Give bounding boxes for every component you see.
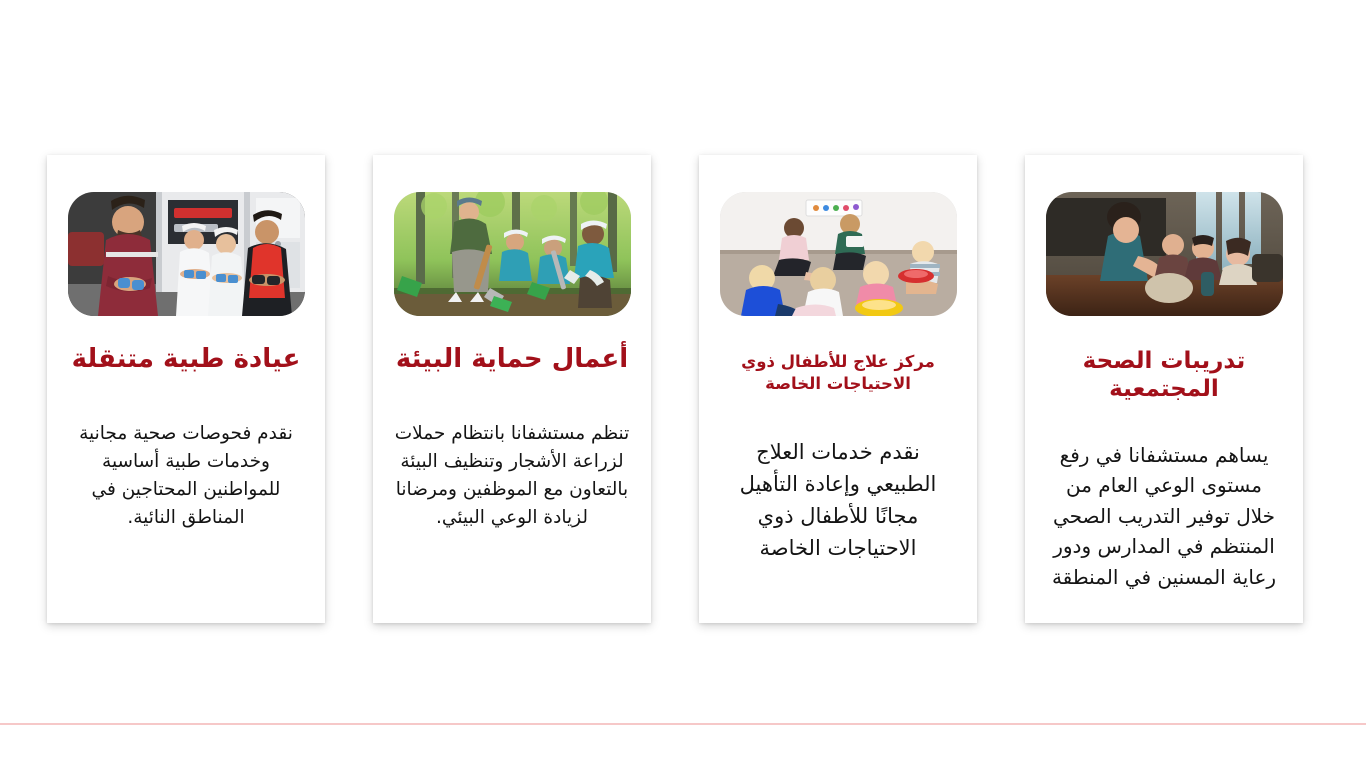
service-card-description: نقدم خدمات العلاج الطبيعي وإعادة التأهيل… bbox=[718, 437, 958, 565]
service-card-community-health-trainings[interactable]: تدريبات الصحة المجتمعية يساهم مستشفانا ف… bbox=[1025, 155, 1303, 623]
community-health-training-photo bbox=[1046, 192, 1283, 316]
service-card-title: أعمال حماية البيئة bbox=[392, 344, 632, 376]
service-card-title: تدريبات الصحة المجتمعية bbox=[1044, 347, 1284, 403]
service-card-description: يساهم مستشفانا في رفع مستوى الوعي العام … bbox=[1044, 440, 1284, 592]
service-card-special-needs-children-therapy-center[interactable]: مركز علاج للأطفال ذوي الاحتياجات الخاصة … bbox=[699, 155, 977, 623]
service-card-description: تنظم مستشفانا بانتظام حملات لزراعة الأشج… bbox=[392, 420, 632, 532]
service-card-title: مركز علاج للأطفال ذوي الاحتياجات الخاصة bbox=[718, 351, 958, 395]
service-card-description: نقدم فحوصات صحية مجانية وخدمات طبية أساس… bbox=[66, 420, 306, 532]
service-card-environmental-protection-works[interactable]: أعمال حماية البيئة تنظم مستشفانا بانتظام… bbox=[373, 155, 651, 623]
volunteers-planting-trees-photo bbox=[394, 192, 631, 316]
services-cards-row: تدريبات الصحة المجتمعية يساهم مستشفانا ف… bbox=[47, 155, 1303, 623]
services-cards-page: تدريبات الصحة المجتمعية يساهم مستشفانا ف… bbox=[0, 0, 1366, 768]
service-card-mobile-medical-clinic[interactable]: عيادة طبية متنقلة نقدم فحوصات صحية مجاني… bbox=[47, 155, 325, 623]
service-card-title: عيادة طبية متنقلة bbox=[66, 344, 306, 376]
paramedics-ambulance-team-photo bbox=[68, 192, 305, 316]
footer-divider bbox=[0, 723, 1366, 725]
children-therapy-session-photo bbox=[720, 192, 957, 316]
